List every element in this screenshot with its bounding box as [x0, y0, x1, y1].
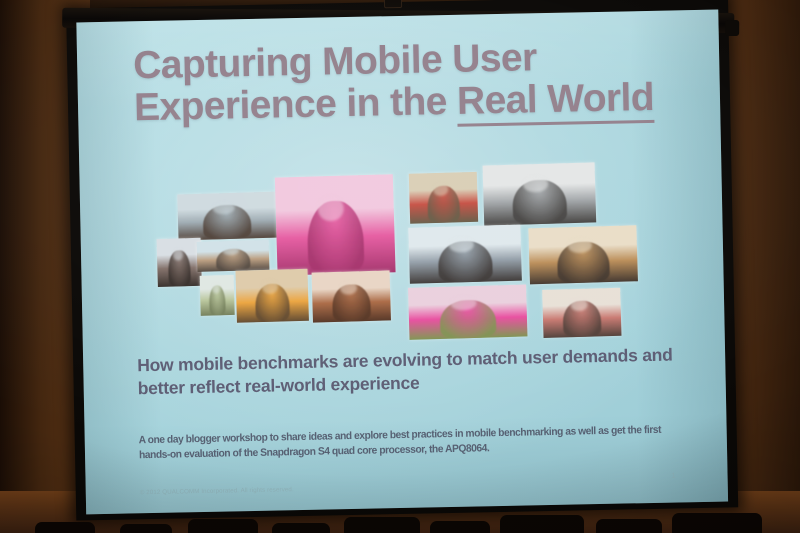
collage-photo-child-with-flower: [200, 275, 235, 316]
title-line-2: Experience in the Real World: [134, 76, 665, 128]
audience-head-silhouette: [596, 519, 662, 533]
audience-silhouettes: [0, 499, 800, 533]
slide-footer-copyright: © 2012 QUALCOMM Incorporated. All rights…: [140, 486, 294, 496]
collage-photo-woman-with-tablet-left-edge: [157, 238, 202, 287]
slide-body-paragraph: A one day blogger workshop to share idea…: [139, 422, 690, 463]
photo-highlight-shape: [523, 176, 548, 192]
audience-head-silhouette: [344, 517, 420, 533]
collage-photo-woman-at-desk-with-laptop: [528, 225, 638, 284]
collage-photo-woman-on-phone-in-city: [408, 225, 522, 284]
collage-photo-family-on-couch-with-tablet: [483, 162, 597, 225]
photo-highlight-shape: [568, 238, 592, 253]
photo-highlight-shape: [262, 280, 278, 294]
slide-title: Capturing Mobile User Experience in the …: [133, 35, 665, 129]
audience-head-silhouette: [120, 524, 172, 533]
collage-photo-group-of-women-taking-selfie: [408, 284, 527, 339]
audience-head-silhouette: [500, 515, 584, 533]
collage-photo-woman-in-pink-hijab-tablet: [275, 174, 396, 275]
photo-collage: [177, 159, 642, 347]
roller-end-cap: [725, 20, 739, 36]
slide-page-number: 1: [672, 473, 676, 480]
audience-head-silhouette: [430, 521, 490, 533]
collage-photo-city-skyline-man-in-suit: [177, 192, 276, 241]
projection-screen: Capturing Mobile User Experience in the …: [66, 0, 738, 529]
collage-photo-beach-with-tablet: [197, 240, 270, 272]
audience-head-silhouette: [672, 513, 762, 533]
collage-photo-man-in-orange-turban: [235, 269, 308, 323]
slide-surface: Capturing Mobile User Experience in the …: [76, 10, 728, 515]
collage-photo-two-women-sharing-phone: [312, 270, 391, 322]
slide-subtitle: How mobile benchmarks are evolving to ma…: [137, 343, 713, 401]
collage-photo-family-picnic-outdoors: [409, 172, 478, 224]
photo-highlight-shape: [173, 248, 183, 261]
collage-photo-woman-looking-at-phone: [542, 288, 621, 338]
screen-mount-hook: [384, 0, 402, 8]
photo-highlight-shape: [212, 283, 220, 294]
title-underlined-phrase: Real World: [457, 76, 655, 127]
photo-of-projected-slide: Capturing Mobile User Experience in the …: [0, 0, 800, 533]
audience-head-silhouette: [188, 519, 258, 533]
title-line-2-prefix: Experience in the: [134, 80, 458, 129]
audience-head-silhouette: [272, 523, 330, 533]
audience-head-silhouette: [35, 522, 95, 533]
photo-highlight-shape: [223, 247, 239, 255]
